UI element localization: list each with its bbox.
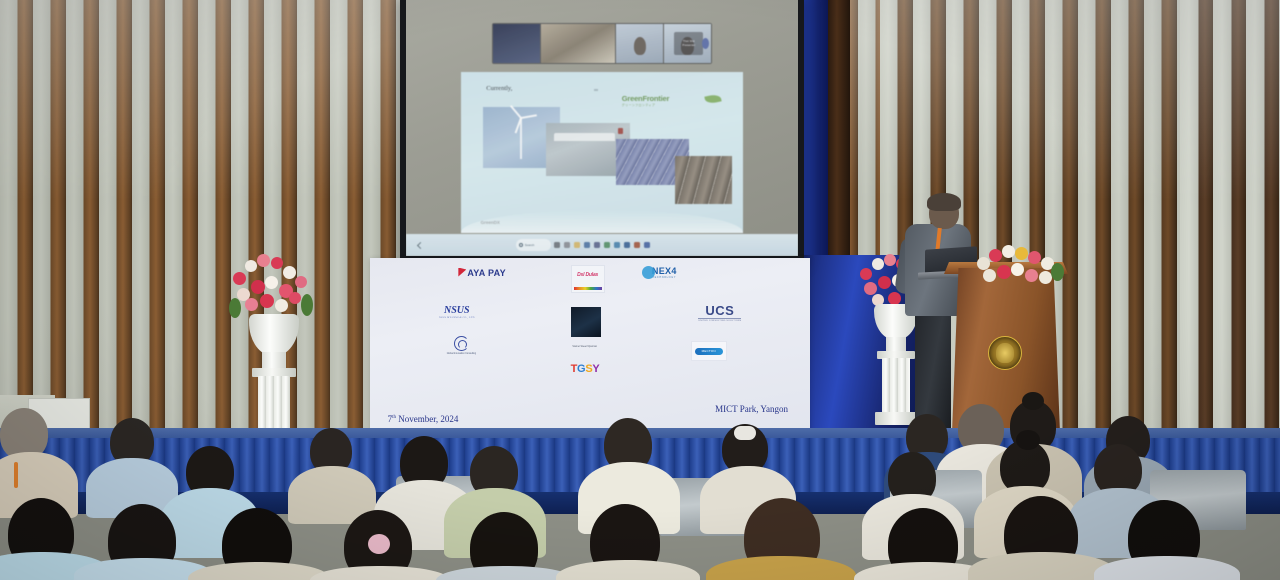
sponsor-name: Global Innovation Consulting	[447, 353, 476, 356]
greenfrontier-subtext: グリーンフロンティア	[622, 103, 724, 107]
zoom-icon[interactable]	[624, 242, 630, 248]
sponsor-name: AYA PAY	[467, 268, 506, 278]
flower	[1025, 269, 1038, 282]
sponsor-tagline: NSUS MYANMAR CO., LTD	[439, 316, 475, 319]
building-roof	[554, 133, 615, 142]
attendee-hair-clip	[734, 426, 756, 440]
flower	[989, 249, 1002, 262]
powerpoint-icon[interactable]	[634, 242, 640, 248]
flower	[864, 282, 877, 295]
flower-pedestal-left	[226, 252, 322, 452]
sponsor-logo-nsus: NSUS NSUS MYANMAR CO., LTD	[439, 305, 475, 319]
projected-image: Thet Wai Presenter Currently,	[406, 0, 798, 256]
slide-heading: Currently,	[486, 85, 512, 92]
flower	[878, 276, 891, 289]
flower	[260, 294, 274, 308]
solar-panel-closeup-image	[675, 156, 731, 204]
foliage	[229, 298, 241, 318]
flower	[251, 280, 265, 294]
greenfrontier-logo: GreenFrontier グリーンフロンティア	[622, 94, 724, 115]
attendee-hair-bun	[1016, 430, 1040, 450]
speaker-hair	[927, 193, 961, 211]
sponsor-name: NSUS	[444, 305, 470, 316]
flower	[1028, 251, 1041, 264]
widgets-icon[interactable]	[564, 242, 570, 248]
flower	[265, 276, 278, 289]
sponsor-tagline: UNITED CONSULTING SOLUTIONS	[698, 318, 741, 322]
projection-screen-frame: Thet Wai Presenter Currently,	[400, 0, 804, 262]
sponsor-logo-rainbow: Dsl Dulas	[571, 265, 605, 293]
flower	[271, 257, 283, 269]
projection-screen: Thet Wai Presenter Currently,	[406, 0, 798, 256]
teams-icon[interactable]	[614, 242, 620, 248]
sponsor-logo-gec: Global Innovation Consulting	[447, 336, 476, 356]
ayapay-mark-icon	[458, 268, 466, 277]
banner-location: MICT Park, Yangon	[715, 404, 788, 414]
attendee-shoulders	[310, 566, 450, 580]
sponsor-logo-starnet	[571, 307, 601, 337]
sponsor-name: NEX4	[652, 266, 677, 276]
sponsor-logo-mecton: MECTON	[691, 341, 727, 361]
flower	[283, 266, 296, 279]
flower	[233, 272, 246, 285]
sponsor-logo-nex4: NEX4 TECHNOLOGY	[652, 266, 677, 279]
pedestal-column	[882, 358, 910, 414]
sponsor-name: Dsl Dulas	[572, 266, 604, 278]
search-icon	[519, 243, 523, 247]
video-call-filmstrip: Thet Wai Presenter	[492, 23, 712, 64]
back-chevron-icon[interactable]	[417, 242, 424, 249]
flower-urn	[249, 314, 299, 356]
windows-taskbar[interactable]: Search	[406, 234, 798, 256]
speaker-legs	[915, 310, 951, 430]
attendee-shoulders	[706, 556, 856, 580]
podium-seal-icon	[988, 336, 1022, 370]
participant-silhouette	[634, 37, 646, 55]
foliage	[1051, 263, 1064, 281]
swirl-icon	[454, 336, 469, 351]
flower	[983, 269, 996, 282]
banner-date: 7th November, 2024	[388, 414, 459, 424]
slide-wave-decoration	[461, 210, 743, 233]
sponsor-logo-grid: AYA PAY NEX4 TECHNOLOGY NSUS NSUS MYANMA…	[396, 265, 783, 391]
edge-icon[interactable]	[584, 242, 590, 248]
flower	[884, 254, 896, 266]
conference-hall-photo: Thet Wai Presenter Currently,	[0, 0, 1280, 580]
attendee-shoulders	[188, 562, 330, 580]
taskbar-search-box[interactable]: Search	[516, 239, 551, 250]
chrome-icon[interactable]	[644, 242, 650, 248]
sponsor-banner: AYA PAY NEX4 TECHNOLOGY NSUS NSUS MYANMA…	[370, 258, 810, 433]
sponsor-name: MECTON	[695, 348, 723, 355]
search-placeholder: Search	[525, 243, 535, 247]
foliage	[301, 294, 313, 316]
participant-tile-2	[541, 24, 616, 63]
flower	[295, 276, 307, 288]
rainbow-bar-icon	[574, 287, 602, 290]
store-icon[interactable]	[594, 242, 600, 248]
sponsor-logo-tgsy: TGSY	[571, 363, 600, 375]
excel-icon[interactable]	[604, 242, 610, 248]
participant-role: Presenter	[682, 43, 695, 48]
sponsor-logo-ayapay: AYA PAY	[458, 268, 506, 278]
presentation-slide: Currently, GreenFr	[461, 72, 743, 233]
turbine-pole	[520, 118, 522, 158]
podium-flower-arrangement	[975, 243, 1067, 291]
sponsor-tagline: TECHNOLOGY	[652, 276, 677, 279]
flower	[997, 265, 1011, 279]
flower	[257, 254, 270, 267]
flower	[289, 292, 301, 304]
flower	[245, 260, 257, 272]
date-month-year: November, 2024	[396, 414, 458, 424]
participant-tile-1	[493, 24, 540, 63]
attendee-shoulders	[1094, 556, 1240, 580]
attendee-hair-bun	[1022, 392, 1044, 410]
flower	[1002, 245, 1015, 258]
attendee-shoulders	[556, 560, 700, 580]
attendee-shoulders	[436, 566, 576, 580]
flower	[275, 299, 288, 312]
attendee-lanyard	[14, 462, 18, 488]
flower	[872, 258, 884, 270]
participant-tile-3	[616, 24, 663, 63]
flower	[860, 268, 872, 280]
attendee-hair-flower	[368, 534, 390, 554]
participant-name-label: Thet Wai Presenter	[674, 32, 703, 55]
sponsor-name: Starnet Sweet Myanmar	[567, 346, 603, 349]
flower	[1011, 263, 1024, 276]
flower-bouquet	[227, 252, 321, 320]
slide-bullet-mark	[594, 89, 598, 91]
sponsor-logo-ucs: UCS UNITED CONSULTING SOLUTIONS	[698, 303, 741, 322]
folder-icon[interactable]	[574, 242, 580, 248]
explorer-icon[interactable]	[554, 242, 560, 248]
flower	[245, 298, 258, 311]
sponsor-name: UCS	[705, 303, 734, 318]
turbine-blade	[521, 114, 537, 119]
flower	[1015, 247, 1028, 260]
building-sign	[618, 128, 624, 134]
